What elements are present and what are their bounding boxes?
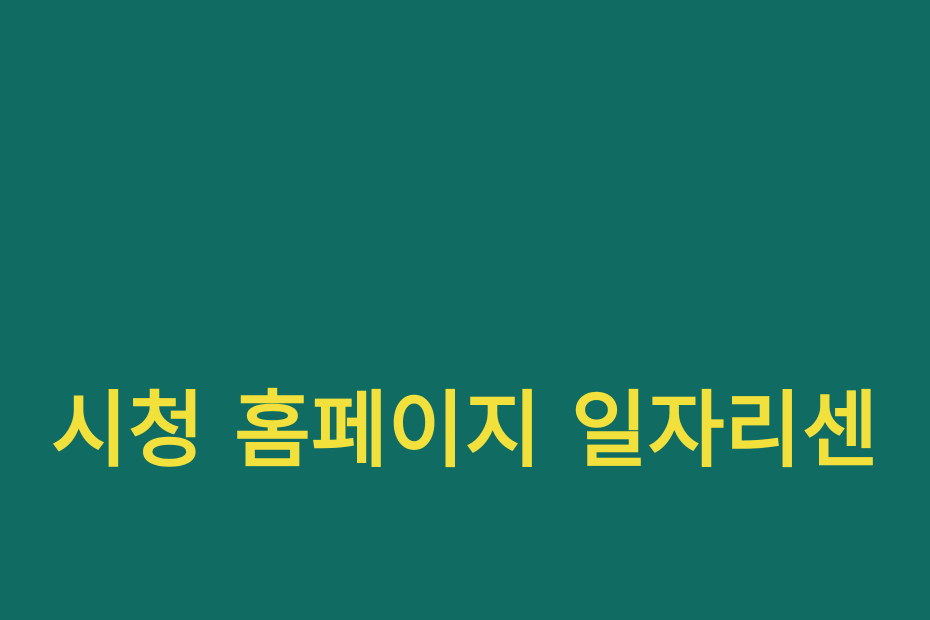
headline-text: 시청 홈페이지 일자리센 터 구인구직 채용 고시공 고 구인구직 채용 공 [0, 163, 930, 620]
headline-line-1: 시청 홈페이지 일자리센 [26, 377, 904, 484]
title-card: 시청 홈페이지 일자리센 터 구인구직 채용 고시공 고 구인구직 채용 공 [0, 0, 930, 620]
